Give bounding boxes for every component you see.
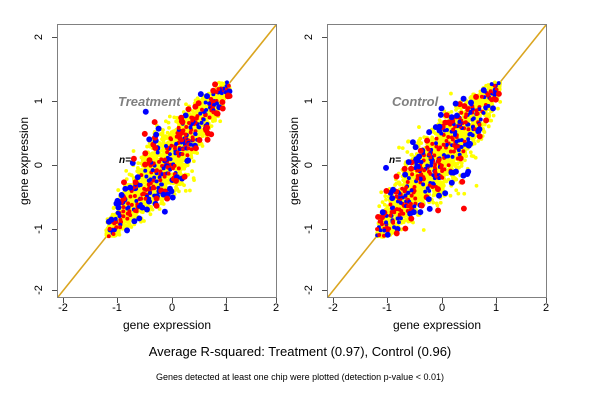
y-tick-mark [322, 290, 327, 291]
y-tick-label: -1 [303, 224, 315, 234]
plot-area-control [327, 24, 547, 298]
y-tick-label: 1 [303, 98, 315, 104]
y-axis-title-treatment: gene expression [17, 81, 31, 241]
y-tick-label: -1 [33, 224, 45, 234]
y-tick-label: 2 [303, 34, 315, 40]
x-tick-label: 2 [543, 302, 549, 314]
plot-area-treatment [57, 24, 277, 298]
n-annotation-control: n= [389, 155, 401, 166]
x-tick-label: -1 [382, 302, 392, 314]
x-tick-label: 1 [493, 302, 499, 314]
y-tick-mark [322, 229, 327, 230]
x-axis-title-control: gene expression [327, 318, 547, 332]
x-tick-label: 1 [223, 302, 229, 314]
y-tick-label: -2 [303, 285, 315, 295]
y-axis-title-control: gene expression [287, 81, 301, 241]
y-tick-mark [52, 165, 57, 166]
figure-subtitle: Genes detected at least one chip were pl… [0, 372, 600, 382]
y-tick-mark [52, 101, 57, 102]
panel-control: Control n= -2 -1 0 1 2 2 1 0 -1 -2 gene [270, 0, 570, 340]
n-annotation-treatment: n= [119, 155, 131, 166]
x-tick-label: 0 [169, 302, 175, 314]
x-axis-title-treatment: gene expression [57, 318, 277, 332]
panel-label-treatment: Treatment [118, 94, 181, 109]
x-tick-label: -2 [58, 302, 68, 314]
x-tick-label: 0 [439, 302, 445, 314]
y-tick-label: 0 [303, 162, 315, 168]
y-tick-mark [52, 229, 57, 230]
x-tick-label: -1 [112, 302, 122, 314]
y-tick-label: 2 [33, 34, 45, 40]
scatter-canvas-control [328, 25, 546, 297]
panel-treatment: Treatment n= -2 -1 0 1 2 2 1 0 -1 -2 ge [0, 0, 300, 340]
figure-caption: Average R-squared: Treatment (0.97), Con… [0, 344, 600, 359]
y-tick-mark [52, 290, 57, 291]
y-tick-label: 0 [33, 162, 45, 168]
y-tick-label: -2 [33, 285, 45, 295]
y-tick-mark [52, 37, 57, 38]
x-tick-label: -2 [328, 302, 338, 314]
y-tick-mark [322, 101, 327, 102]
y-tick-mark [322, 37, 327, 38]
scatter-canvas-treatment [58, 25, 276, 297]
scatter-figure: Treatment n= -2 -1 0 1 2 2 1 0 -1 -2 ge [0, 0, 600, 400]
y-tick-mark [322, 165, 327, 166]
y-tick-label: 1 [33, 98, 45, 104]
panel-label-control: Control [392, 94, 438, 109]
